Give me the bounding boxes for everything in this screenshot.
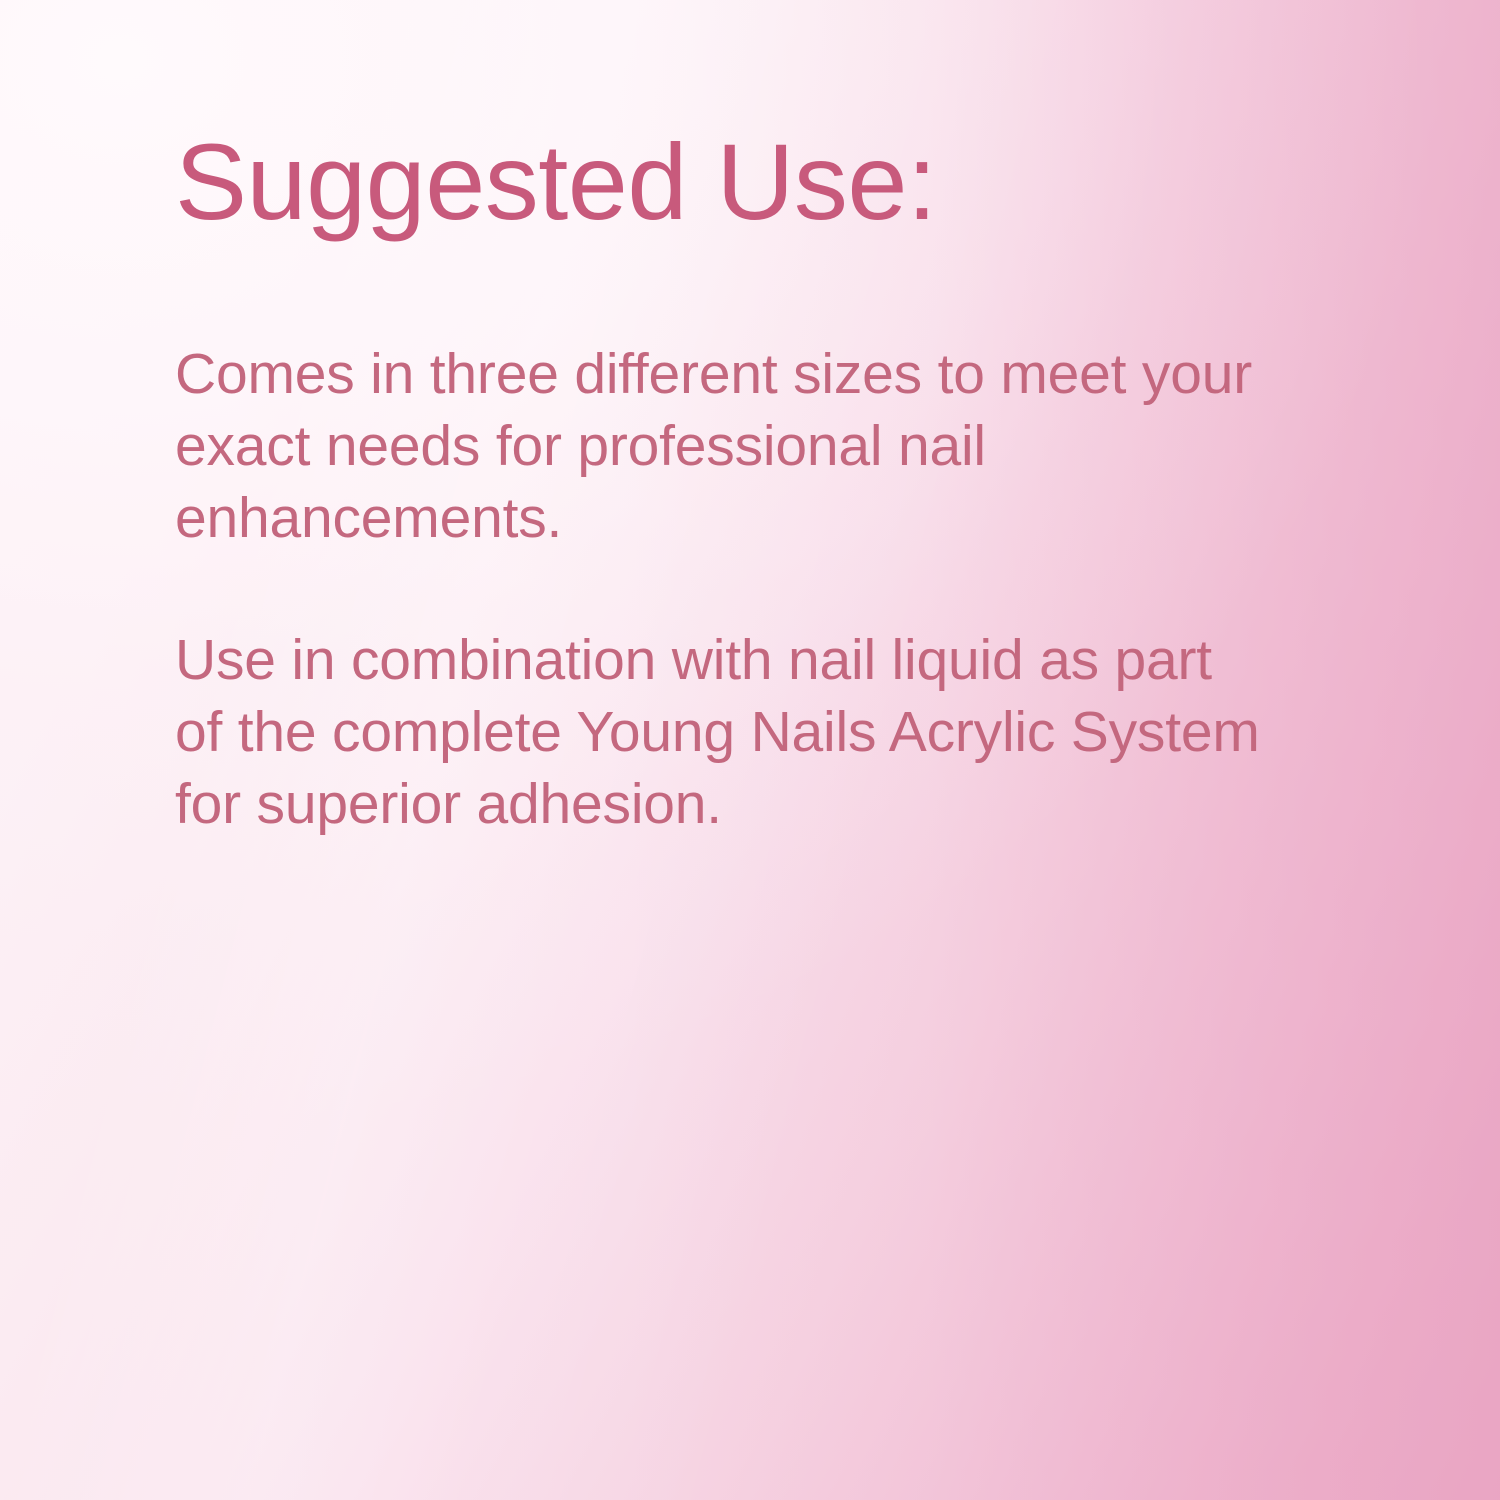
description-paragraph-1: Comes in three different sizes to meet y… — [175, 338, 1265, 554]
body-text-block: Comes in three different sizes to meet y… — [175, 236, 1355, 840]
description-paragraph-2: Use in combination with nail liquid as p… — [175, 624, 1265, 840]
card-content: Suggested Use: Comes in three different … — [175, 0, 1355, 840]
suggested-use-card: Suggested Use: Comes in three different … — [0, 0, 1500, 1500]
page-title: Suggested Use: — [175, 0, 1355, 236]
